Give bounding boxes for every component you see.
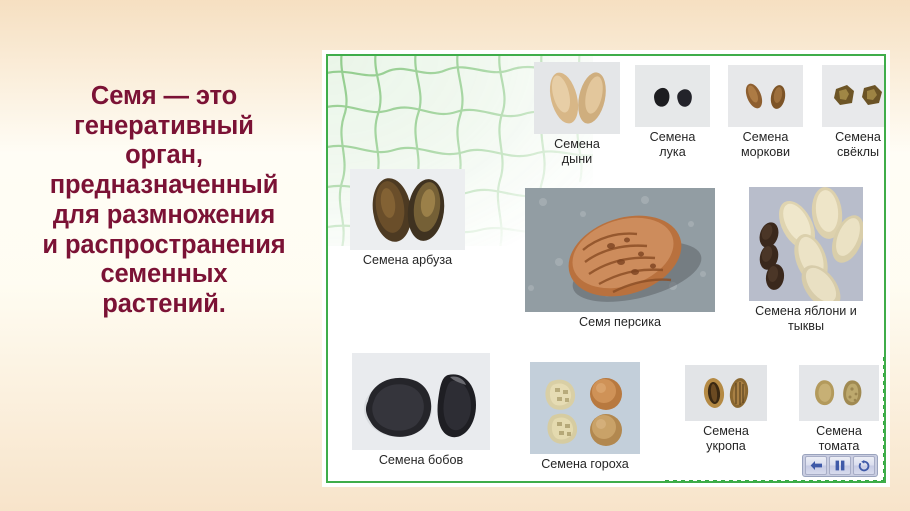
replay-button[interactable] <box>853 456 875 475</box>
melon-caption: Семена дыни <box>534 137 620 167</box>
title-line-7: семенных <box>8 260 320 290</box>
presentation-slide: Семя — это генеративный орган, предназна… <box>0 0 910 511</box>
gallery-item-peach[interactable]: Семя персика <box>525 188 715 330</box>
gallery-item-tomato[interactable]: Семена томата <box>799 365 879 454</box>
melon-caption-line1: Семена <box>554 137 600 151</box>
gallery-item-beet[interactable]: Семена свёклы <box>822 65 886 160</box>
title-line-8: растений. <box>8 290 320 320</box>
tomato-caption-line1: Семена <box>816 424 862 438</box>
gallery-item-onion[interactable]: Семена лука <box>635 65 710 160</box>
selection-marquee-bottom <box>665 480 886 483</box>
peas-caption-line1: Семена гороха <box>541 457 629 471</box>
dill-caption: Семена укропа <box>685 424 767 454</box>
carrot-caption-line1: Семена <box>743 130 789 144</box>
gallery-item-beans[interactable]: Семена бобов <box>352 353 490 468</box>
onion-caption-line1: Семена <box>650 130 696 144</box>
page-title: Семя — это генеративный орган, предназна… <box>8 82 320 320</box>
media-playback-controls[interactable] <box>802 454 878 477</box>
beet-seeds-photo <box>822 65 886 127</box>
carrot-caption: Семена моркови <box>728 130 803 160</box>
onion-caption-line2: лука <box>635 145 710 160</box>
gallery-item-watermelon[interactable]: Семена арбуза <box>350 169 465 268</box>
back-arrow-icon <box>810 460 823 471</box>
title-line-2: генеративный <box>8 112 320 142</box>
beans-caption: Семена бобов <box>352 453 490 468</box>
gallery-item-apple-pumpkin[interactable]: Семена яблони и тыквы <box>749 187 863 334</box>
dill-seeds-photo <box>685 365 767 421</box>
peach-seed-photo <box>525 188 715 312</box>
gallery-item-melon[interactable]: Семена дыни <box>534 62 620 167</box>
apple-pumpkin-seeds-photo <box>749 187 863 301</box>
apple-pumpkin-caption: Семена яблони и тыквы <box>749 304 863 334</box>
dill-caption-line1: Семена <box>703 424 749 438</box>
title-line-5: для размножения <box>8 201 320 231</box>
tomato-caption-line2: томата <box>799 439 879 454</box>
peas-caption: Семена гороха <box>530 457 640 472</box>
carrot-caption-line2: моркови <box>728 145 803 160</box>
beet-caption: Семена свёклы <box>822 130 886 160</box>
melon-caption-line2: дыни <box>534 152 620 167</box>
selection-marquee-right <box>883 357 886 483</box>
title-line-3: орган, <box>8 141 320 171</box>
watermelon-caption: Семена арбуза <box>350 253 465 268</box>
gallery-panel[interactable]: Семена дыни Семена лука <box>322 50 890 487</box>
selection-marquee <box>885 482 886 483</box>
watermelon-caption-line1: Семена арбуза <box>363 253 452 267</box>
apple-pumpkin-caption-line1: Семена яблони и тыквы <box>755 304 857 333</box>
back-button[interactable] <box>805 456 827 475</box>
gallery-item-carrot[interactable]: Семена моркови <box>728 65 803 160</box>
beet-caption-line2: свёклы <box>822 145 886 160</box>
watermelon-seeds-photo <box>350 169 465 250</box>
gallery-item-peas[interactable]: Семена гороха <box>530 362 640 472</box>
onion-seeds-photo <box>635 65 710 127</box>
beet-caption-line1: Семена <box>835 130 881 144</box>
melon-seeds-photo <box>534 62 620 134</box>
title-line-4: предназначенный <box>8 171 320 201</box>
onion-caption: Семена лука <box>635 130 710 160</box>
pause-icon <box>835 460 845 471</box>
carrot-seeds-photo <box>728 65 803 127</box>
tomato-caption: Семена томата <box>799 424 879 454</box>
peach-caption: Семя персика <box>525 315 715 330</box>
pause-button[interactable] <box>829 456 851 475</box>
beans-seeds-photo <box>352 353 490 450</box>
tomato-seeds-photo <box>799 365 879 421</box>
peach-caption-line1: Семя персика <box>579 315 661 329</box>
beans-caption-line1: Семена бобов <box>379 453 463 467</box>
peas-seeds-photo <box>530 362 640 454</box>
gallery-item-dill[interactable]: Семена укропа <box>685 365 767 454</box>
title-line-6: и распространения <box>8 231 320 261</box>
replay-icon <box>858 460 870 472</box>
dill-caption-line2: укропа <box>685 439 767 454</box>
title-line-1: Семя — это <box>8 82 320 112</box>
